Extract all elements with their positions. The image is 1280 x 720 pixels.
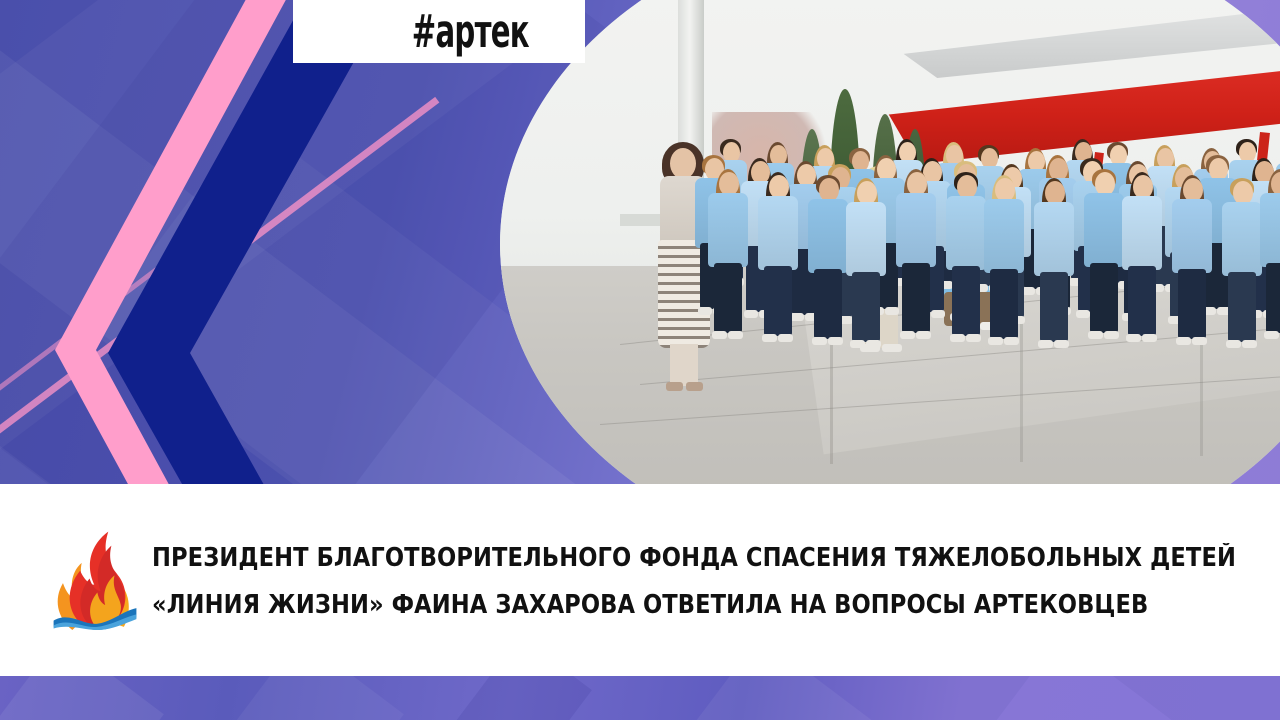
photo-person-trousers	[1040, 272, 1068, 342]
photo-person-trousers	[1128, 266, 1156, 336]
photo-person-shoe-left	[900, 331, 915, 339]
photo-person-shoe-left	[744, 310, 758, 318]
photo-speaker-shoe-right	[686, 382, 703, 391]
photo-person-trousers	[814, 269, 842, 339]
photo-person-shoe-left	[1088, 331, 1103, 339]
photo-person-shoe-right	[866, 340, 881, 348]
photo-person-uniform	[1260, 193, 1280, 267]
photo-person-shoe-left	[762, 334, 777, 342]
photo-person-shoe-left	[1126, 334, 1141, 342]
bottom-strip-band-4	[676, 676, 920, 720]
photo-person-trousers	[1178, 269, 1206, 339]
bottom-purple-strip	[0, 676, 1280, 720]
photo-person-trousers	[902, 263, 930, 333]
photo-person-uniform	[1122, 196, 1162, 270]
photo-person-trousers	[990, 269, 1018, 339]
photo-person-shoe-right	[778, 334, 793, 342]
photo-person-shoe-right	[728, 331, 743, 339]
caption-text: ПРЕЗИДЕНТ БЛАГОТВОРИТЕЛЬНОГО ФОНДА СПАСЕ…	[152, 542, 1253, 619]
photo-person-trousers	[1266, 263, 1280, 333]
photo-person-shoe-right	[1142, 334, 1157, 342]
photo-person-uniform	[846, 202, 886, 276]
photo-speaker-head	[670, 148, 696, 179]
liniya-zhizni-flame-logo	[52, 530, 138, 630]
photo-person-shoe-right	[885, 307, 899, 315]
photo-person-trousers	[764, 266, 792, 336]
photo-person-trousers	[714, 263, 742, 333]
photo-person-uniform	[1222, 202, 1262, 276]
bottom-strip-band-3	[436, 676, 592, 720]
caption-line-1: ПРЕЗИДЕНТ БЛАГОТВОРИТЕЛЬНОГО ФОНДА СПАСЕ…	[152, 546, 1236, 572]
photo-person-shoe-left	[698, 307, 712, 315]
photo-person-uniform	[1034, 202, 1074, 276]
photo-person-shoe-left	[1038, 340, 1053, 348]
photo-white-hoodie-shoe-r	[882, 344, 902, 352]
photo-person-trousers	[1228, 272, 1256, 342]
photo-person-shoe-right	[1004, 337, 1019, 345]
hashtag-title-box: #артек	[293, 0, 585, 63]
photo-person-shoe-left	[1226, 340, 1241, 348]
photo-person-shoe-left	[988, 337, 1003, 345]
photo-person-shoe-right	[916, 331, 931, 339]
photo-person-uniform	[708, 193, 748, 267]
photo-person-shoe-right	[966, 334, 981, 342]
photo-speaker-shoe-left	[666, 382, 683, 391]
photo-person-shoe-left	[1076, 310, 1090, 318]
photo-person-shoe-left	[1264, 331, 1279, 339]
photo-person-shoe-left	[790, 313, 804, 321]
photo-person-shoe-right	[1054, 340, 1069, 348]
photo-person-shoe-left	[712, 331, 727, 339]
bottom-strip-band-5	[976, 676, 1252, 720]
caption-band: ПРЕЗИДЕНТ БЛАГОТВОРИТЕЛЬНОГО ФОНДА СПАСЕ…	[0, 484, 1280, 676]
photo-person-uniform	[984, 199, 1024, 273]
photo-person-shoe-left	[812, 337, 827, 345]
hashtag-label: #артек	[411, 5, 528, 58]
photo-person-shoe-right	[828, 337, 843, 345]
photo-speaker-legs	[670, 344, 698, 386]
photo-person-shoe-right	[1242, 340, 1257, 348]
caption-line-2: «ЛИНИЯ ЖИЗНИ» ФАИНА ЗАХАРОВА ОТВЕТИЛА НА…	[152, 593, 1236, 619]
photo-person-shoe-right	[1192, 337, 1207, 345]
photo-person-shoe-right	[931, 310, 945, 318]
photo-person-shoe-right	[1104, 331, 1119, 339]
photo-person-trousers	[952, 266, 980, 336]
photo-person-trousers	[852, 272, 880, 342]
photo-person-uniform	[808, 199, 848, 273]
photo-person-uniform	[1172, 199, 1212, 273]
photo-person-shoe-left	[850, 340, 865, 348]
photo-person-uniform	[1084, 193, 1124, 267]
photo-person-trousers	[1090, 263, 1118, 333]
photo-person-shoe-left	[1176, 337, 1191, 345]
photo-person-shoe-left	[950, 334, 965, 342]
photo-person-uniform	[946, 196, 986, 270]
bottom-strip-band-2	[216, 676, 404, 720]
photo-person-uniform	[896, 193, 936, 267]
poster-canvas: #артек ПРЕЗИДЕНТ БЛАГОТВОРИТЕЛЬНОГО	[0, 0, 1280, 720]
photo-person-uniform	[758, 196, 798, 270]
bottom-strip-band-1	[0, 676, 164, 720]
